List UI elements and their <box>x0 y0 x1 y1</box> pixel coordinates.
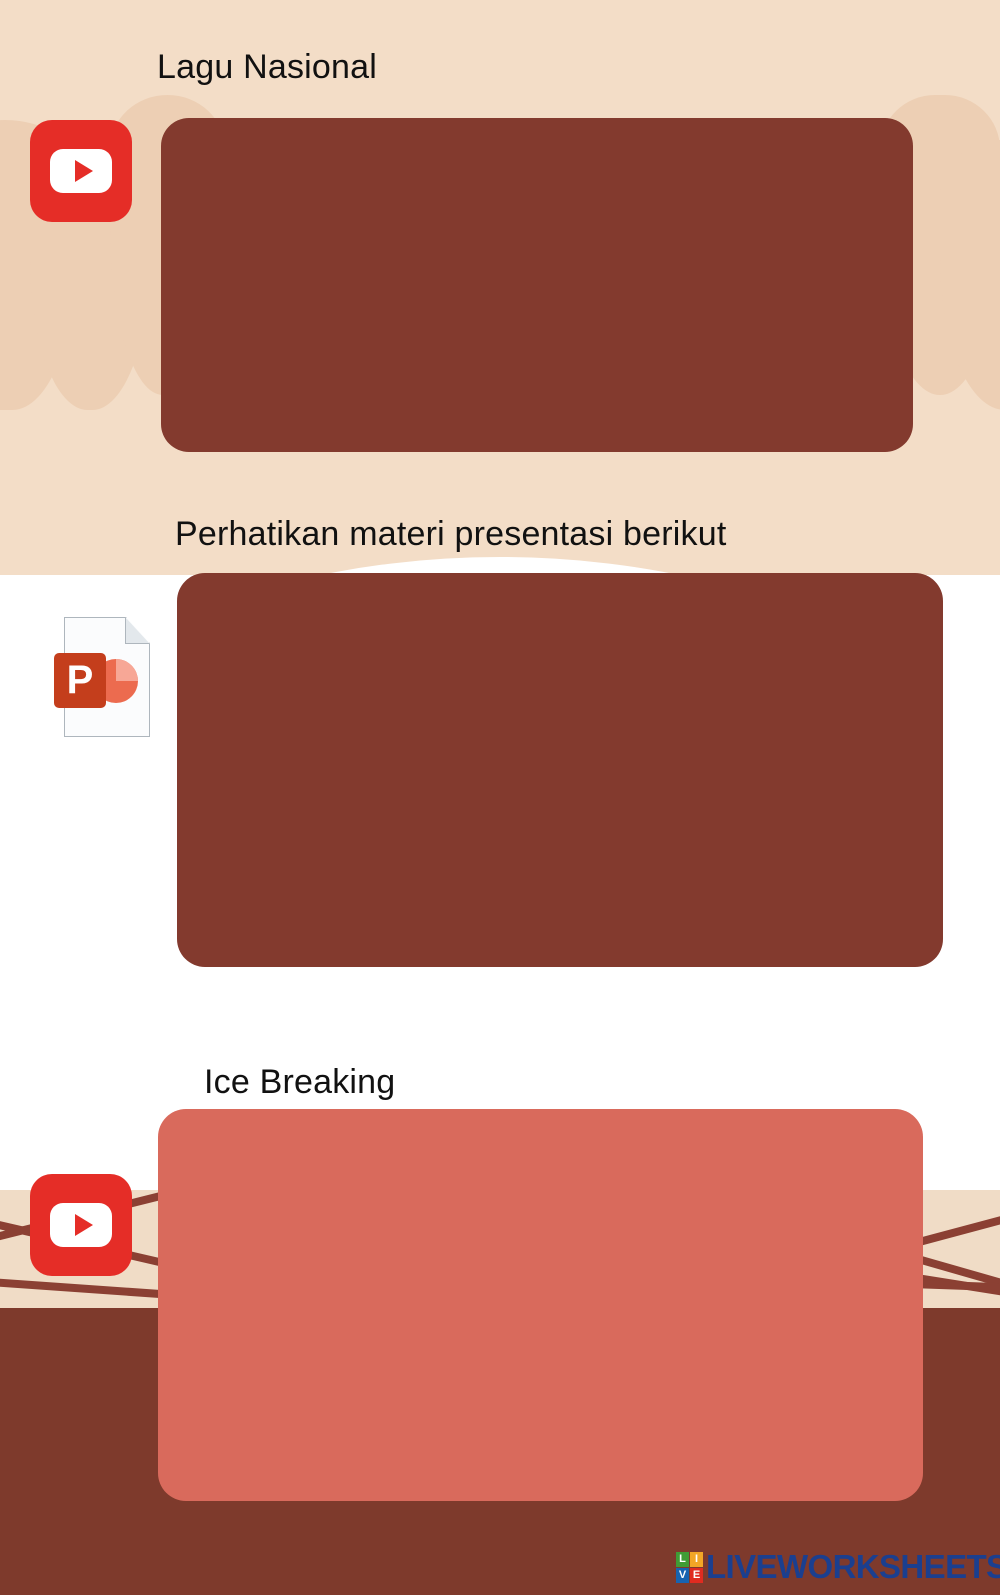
logo-cell-i: I <box>690 1552 703 1567</box>
youtube-icon[interactable] <box>30 120 132 222</box>
logo-cell-e: E <box>690 1568 703 1583</box>
youtube-icon-screen <box>50 149 112 193</box>
presentation-embed-materi[interactable] <box>177 573 943 967</box>
video-embed-lagu-nasional[interactable] <box>161 118 913 452</box>
band-edge-bump <box>955 1190 997 1201</box>
logo-cell-v: V <box>676 1568 689 1583</box>
liveworksheets-logo-grid: L I V E <box>676 1552 703 1583</box>
section-title-lagu-nasional: Lagu Nasional <box>157 48 377 87</box>
powerpoint-icon-letter: P <box>54 653 106 708</box>
play-icon <box>75 160 93 182</box>
video-embed-ice-breaking[interactable] <box>158 1109 923 1501</box>
section-title-presentasi: Perhatikan materi presentasi berikut <box>175 515 726 554</box>
play-icon <box>75 1214 93 1236</box>
logo-cell-l: L <box>676 1552 689 1567</box>
liveworksheets-logo[interactable]: L I V E LIVEWORKSHEETS <box>676 1547 1000 1587</box>
liveworksheets-wordmark: LIVEWORKSHEETS <box>706 1548 1000 1586</box>
worksheet-page: Lagu Nasional Perhatikan materi presenta… <box>0 0 1000 1595</box>
section-title-ice-breaking: Ice Breaking <box>204 1063 395 1102</box>
powerpoint-icon[interactable]: P <box>54 617 150 737</box>
youtube-icon[interactable] <box>30 1174 132 1276</box>
youtube-icon-screen <box>50 1203 112 1247</box>
